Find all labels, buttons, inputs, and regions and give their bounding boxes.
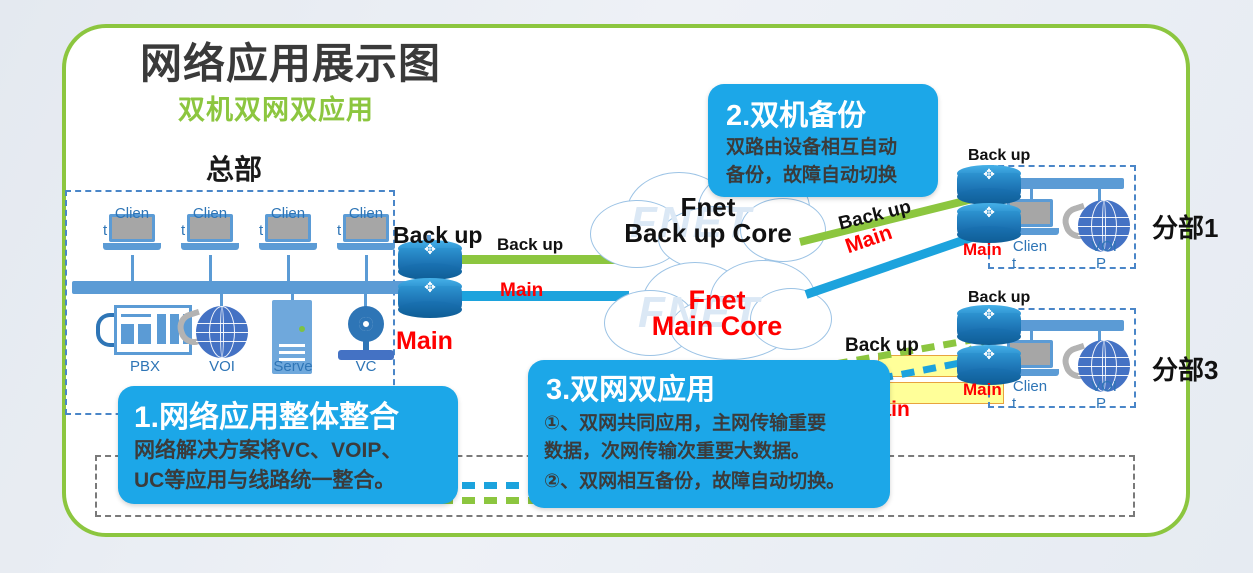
client-2-stem xyxy=(209,255,212,283)
branch-3-client-label-line2: t xyxy=(1012,395,1016,412)
page-title: 网络应用展示图 xyxy=(140,30,441,91)
branch-3-backup-router-label: Back up xyxy=(968,289,1030,307)
hq-backup-router-label: Back up xyxy=(393,222,482,249)
cloud-main-core: FNET Fnet Main Core xyxy=(602,258,832,368)
server-label: Serve xyxy=(258,358,328,375)
callout-1-body-line-1: 网络解决方案将VC、VOIP、 xyxy=(134,434,402,464)
branch-1-client-label-line2: t xyxy=(1012,255,1016,272)
hq-main-router-label: Main xyxy=(396,327,453,356)
router-arrows-icon: ✥ xyxy=(957,204,1021,220)
client-4-label-line2: t xyxy=(337,222,341,239)
callout-3[interactable]: 3.双网双应用 ①、双网共同应用，主网传输重要 数据，次网传输次重要大数据。 ②… xyxy=(528,360,890,508)
client-1-stem xyxy=(131,255,134,283)
page-subtitle: 双机双网双应用 xyxy=(178,88,374,127)
diagram-canvas: 网络应用展示图 双机双网双应用 总部 Clien t Clien t Clien… xyxy=(0,0,1253,573)
hq-trunk-bar xyxy=(72,281,427,294)
client-2-label-line2: t xyxy=(181,222,185,239)
link-label-hq-main: Main xyxy=(500,280,543,302)
callout-2-title: 2.双机备份 xyxy=(726,92,866,134)
video-camera-icon xyxy=(338,306,394,364)
branch-3-main-router: ✥ xyxy=(957,345,1021,385)
headquarters-title: 总部 xyxy=(206,148,262,188)
client-2-label-line1: Clien xyxy=(181,205,239,222)
link-label-branch3-backup: Back up xyxy=(845,335,919,357)
router-arrows-icon: ✥ xyxy=(957,306,1021,322)
branch-1-name: 分部1 xyxy=(1152,208,1218,245)
callout-1[interactable]: 1.网络应用整体整合 网络解决方案将VC、VOIP、 UC等应用与线路统一整合。 xyxy=(118,386,458,504)
vc-label: VC xyxy=(331,358,401,375)
client-3-label-line1: Clien xyxy=(259,205,317,222)
cloud-main-core-line2: Main Core xyxy=(602,312,832,340)
pbx-label: PBX xyxy=(110,358,180,375)
router-arrows-icon: ✥ xyxy=(398,279,462,295)
client-3-label-line2: t xyxy=(259,222,263,239)
hq-main-router: ✥ xyxy=(398,278,462,318)
branch-3-backup-router: ✥ xyxy=(957,305,1021,345)
link-label-hq-backup: Back up xyxy=(497,235,563,255)
callout-3-body-line-1: ①、双网共同应用，主网传输重要 xyxy=(544,408,826,435)
branch-1-backup-router: ✥ xyxy=(957,165,1021,205)
branch-3-name: 分部3 xyxy=(1152,350,1218,387)
branch-3-main-router-label: Main xyxy=(963,380,1002,400)
callout-1-title: 1.网络应用整体整合 xyxy=(134,392,399,436)
cloud-backup-core-line2: Back up Core xyxy=(588,220,828,247)
callout-3-body-line-3: ②、双网相互备份，故障自动切换。 xyxy=(544,466,845,493)
voip-globe-icon xyxy=(196,306,248,358)
router-arrows-icon: ✥ xyxy=(957,166,1021,182)
client-1-label-line2: t xyxy=(103,222,107,239)
callout-3-body-line-2: 数据，次网传输次重要大数据。 xyxy=(544,436,810,463)
callout-2-body-line-1: 双路由设备相互自动 xyxy=(726,132,897,159)
branch-3-voip-label-line1: VOI xyxy=(1074,378,1134,395)
client-1-label-line1: Clien xyxy=(103,205,161,222)
branch-1-voip-label-line2: P xyxy=(1096,255,1106,272)
branch-1-main-router: ✥ xyxy=(957,203,1021,243)
branch-1-backup-router-label: Back up xyxy=(968,147,1030,165)
voip-label: VOI xyxy=(187,358,257,375)
branch-1-main-router-label: Main xyxy=(963,240,1002,260)
client-4-label-line1: Clien xyxy=(337,205,395,222)
branch-3-voip-label-line2: P xyxy=(1096,395,1106,412)
client-4-stem xyxy=(365,255,368,283)
callout-2[interactable]: 2.双机备份 双路由设备相互自动 备份，故障自动切换 xyxy=(708,84,938,197)
callout-3-title: 3.双网双应用 xyxy=(546,366,715,408)
callout-1-body-line-2: UC等应用与线路统一整合。 xyxy=(134,464,395,494)
branch-1-voip-label-line1: VOI xyxy=(1074,238,1134,255)
router-arrows-icon: ✥ xyxy=(957,346,1021,362)
client-3-stem xyxy=(287,255,290,283)
callout-2-body-line-2: 备份，故障自动切换 xyxy=(726,160,897,187)
